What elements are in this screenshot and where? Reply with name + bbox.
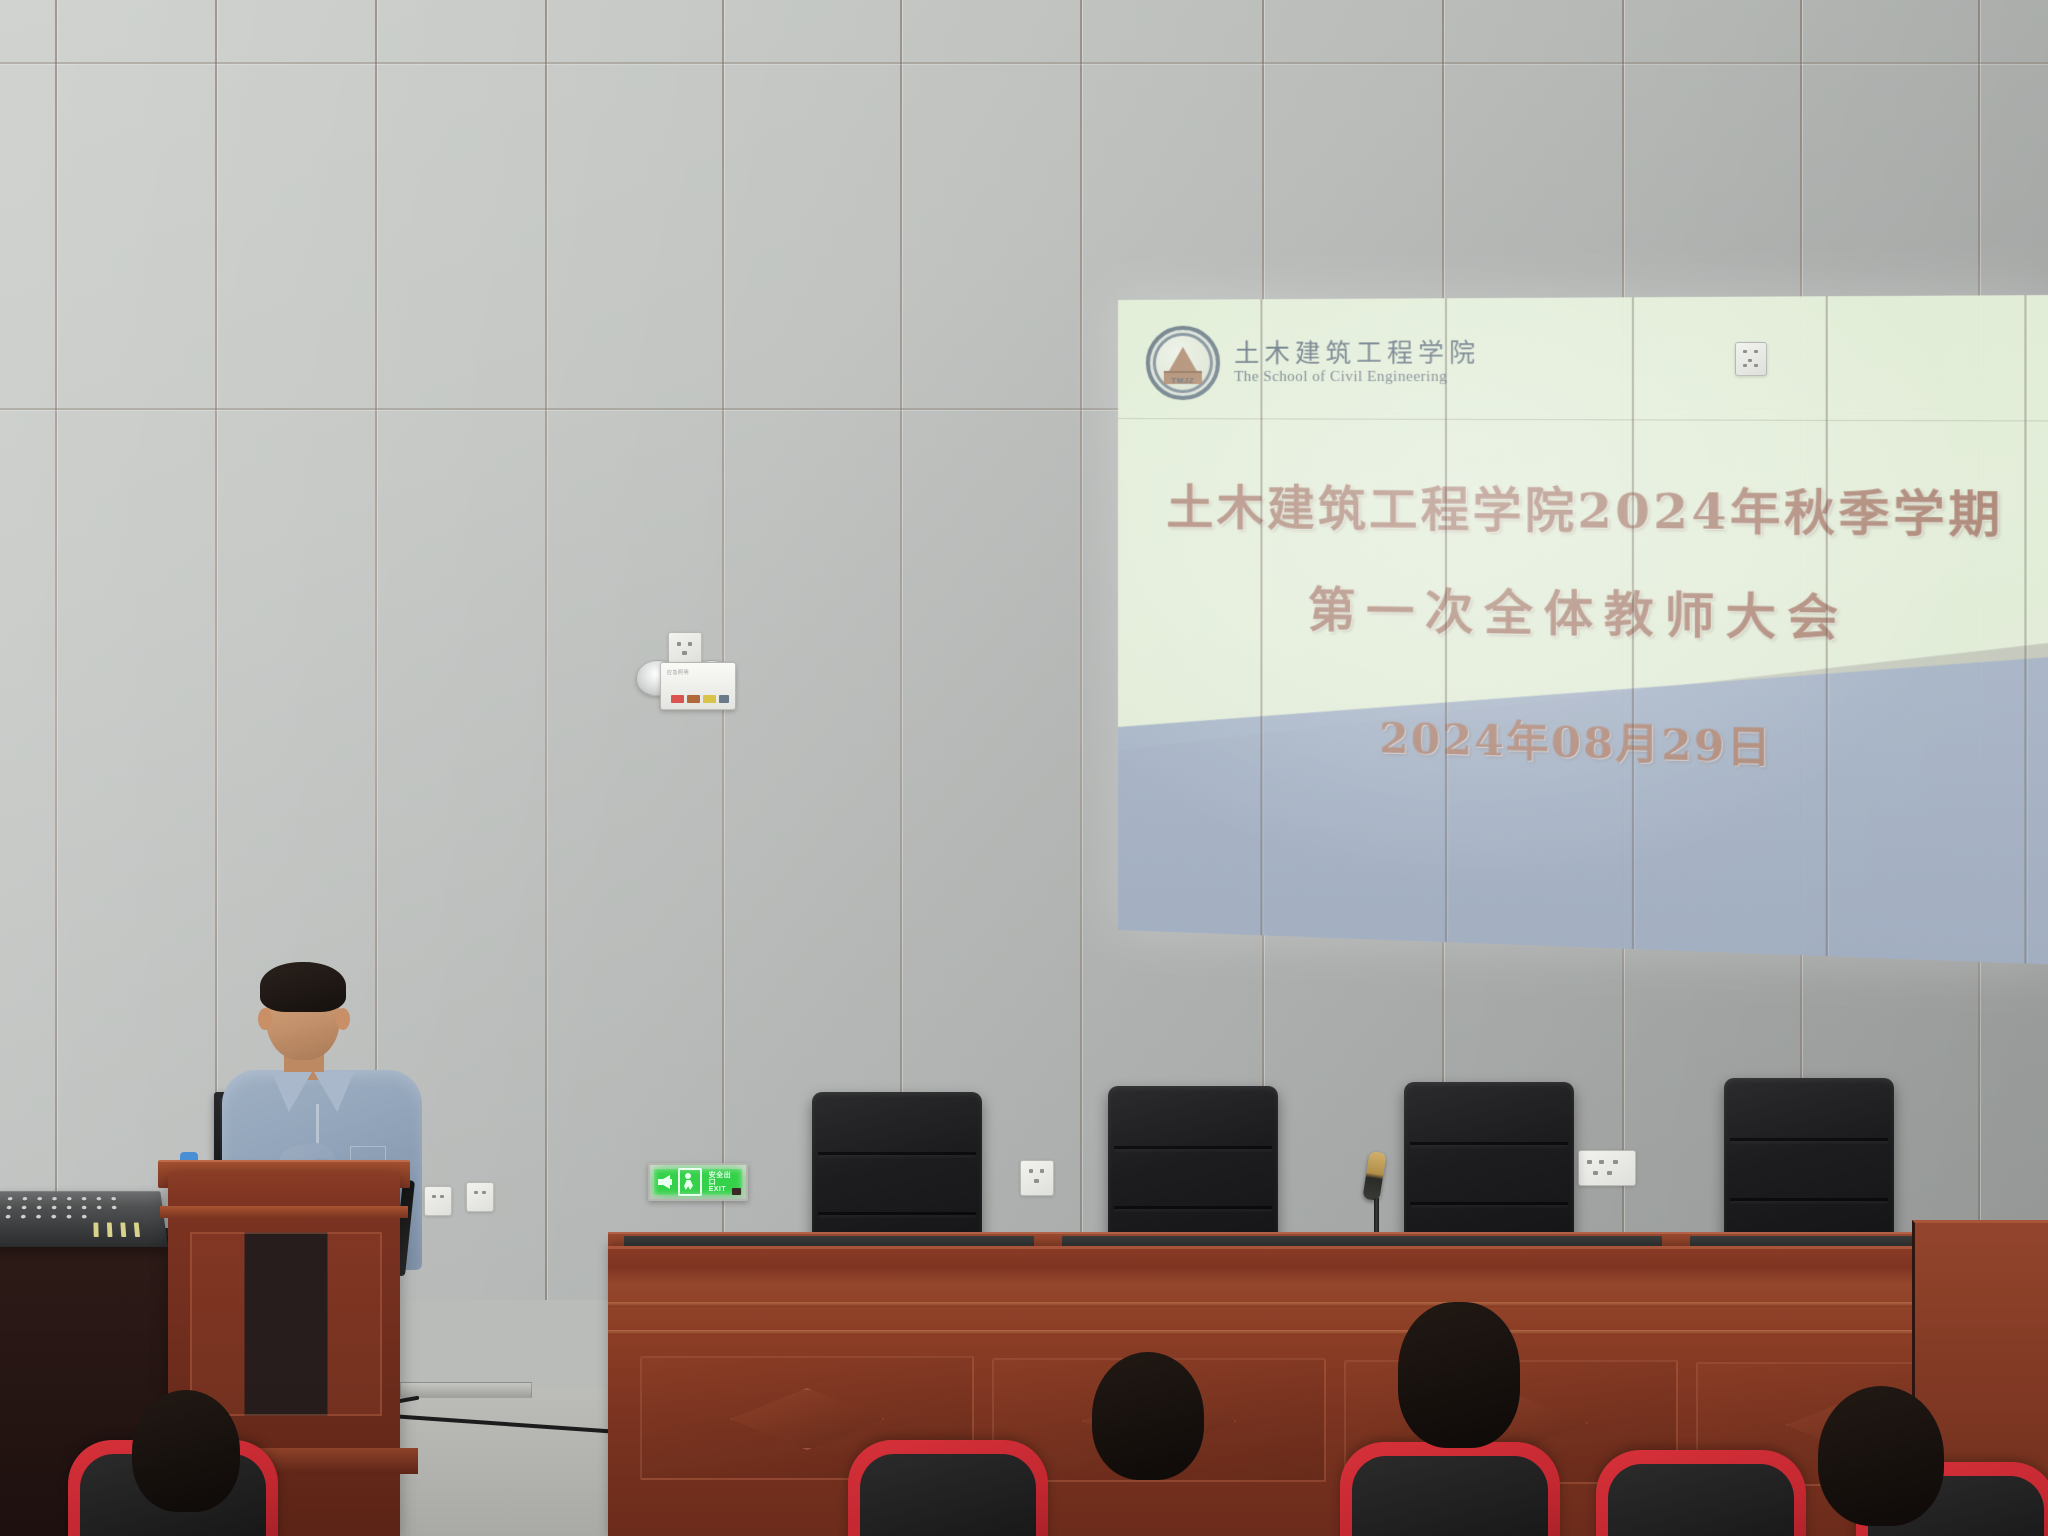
exit-sign-content: 安全出口 EXIT [654, 1168, 742, 1196]
emergency-light-label: 应急照明 [667, 669, 689, 676]
wall-outlet-icon [1735, 342, 1767, 376]
running-man-icon [678, 1168, 702, 1196]
audio-mixer-console[interactable] [0, 1191, 168, 1247]
conference-chair [1724, 1078, 1894, 1258]
slide-seam-horizontal [1118, 418, 2048, 422]
wall-outlet-icon [1020, 1160, 1054, 1196]
speaker-hair [260, 962, 346, 1012]
wall-seam [545, 0, 547, 1300]
wall-seam-horizontal [0, 62, 2048, 64]
table-trim-band [608, 1302, 2048, 1307]
wall-outlet-icon [466, 1182, 494, 1212]
emblem-tower-shape [1168, 347, 1198, 373]
mixer-faders[interactable] [0, 1223, 159, 1241]
slide-org-name-cn: 土木建筑工程学院 [1234, 339, 1480, 367]
audience-person-head [1092, 1352, 1204, 1480]
wall-outlet-icon [1578, 1150, 1636, 1186]
audience-chair [848, 1440, 1048, 1536]
emergency-light-sticker [703, 695, 716, 703]
wall-seam [1080, 0, 1082, 1300]
audience-chair [1596, 1450, 1806, 1536]
slide-band-blue [1118, 640, 2048, 965]
podium-lip [160, 1206, 408, 1218]
audience-chair [1340, 1442, 1560, 1536]
wall-seam [55, 0, 57, 1300]
emergency-light-sticker [671, 695, 684, 703]
emergency-light-sticker [687, 695, 700, 703]
arrow-left-icon [658, 1175, 670, 1189]
exit-sign: 安全出口 EXIT [648, 1163, 748, 1201]
slide-logo-block: TMJZ 土木建筑工程学院 The School of Civil Engine… [1146, 325, 1480, 401]
emblem-abbr-text: TMJZ [1150, 376, 1216, 385]
projected-slide: TMJZ 土木建筑工程学院 The School of Civil Engine… [1118, 295, 2048, 965]
slide-org-name-en: The School of Civil Engineering [1234, 369, 1480, 386]
wall-outlet-icon [668, 632, 702, 664]
screenshot-scene: TMJZ 土木建筑工程学院 The School of Civil Engine… [0, 0, 2048, 1536]
speaker-ear [258, 1008, 272, 1030]
emergency-light-body: 应急照明 [660, 662, 736, 710]
audience-person-head [132, 1390, 240, 1512]
podium-front-panel [190, 1232, 382, 1416]
school-emblem-icon: TMJZ [1146, 326, 1220, 401]
audience-person-head [1398, 1302, 1520, 1448]
audience-person-head [1818, 1386, 1944, 1526]
speaker-ear [336, 1008, 350, 1030]
exit-sign-indicator [732, 1188, 741, 1195]
floor-vent [400, 1382, 532, 1398]
slide-title-line-2: 第一次全体教师大会 [1118, 568, 2048, 653]
wall-outlet-icon [424, 1186, 452, 1216]
table-trim-band [608, 1330, 2048, 1335]
emergency-light-sticker [719, 695, 729, 703]
wall-seam [722, 0, 724, 1300]
exit-label-cn: 安全出口 [709, 1172, 738, 1186]
slide-logo-text: 土木建筑工程学院 The School of Civil Engineering [1234, 339, 1480, 387]
slide-title-line-1: 土木建筑工程学院2024年秋季学期 [1118, 468, 2048, 547]
